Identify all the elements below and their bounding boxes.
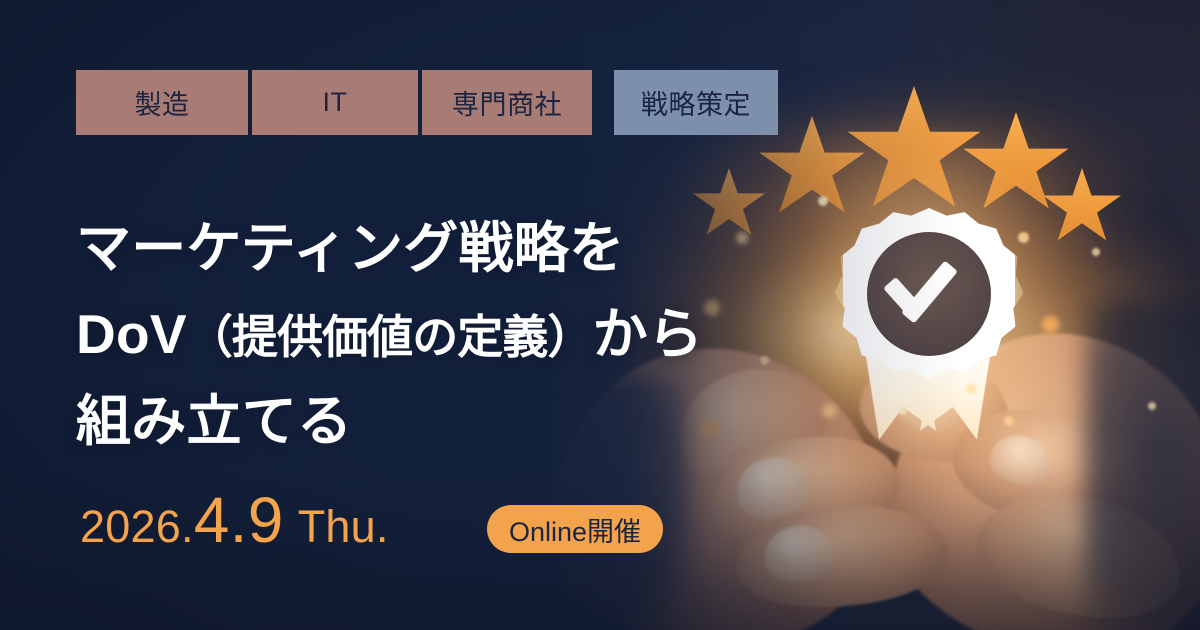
event-date-day: 4.9 <box>194 492 284 550</box>
category-tag-label: 製造 <box>134 83 189 122</box>
category-tag-manufacturing[interactable]: 製造 <box>76 70 248 135</box>
category-tag-label: IT <box>322 87 347 118</box>
event-date-weekday: Thu. <box>298 501 389 553</box>
event-date: 2026.4.9Thu. <box>80 492 389 553</box>
banner-content: 製造 IT 専門商社 戦略策定 マーケティング戦略を DoV（提供価値の定義）か… <box>0 0 1200 630</box>
title-line-2-tail: から <box>593 303 704 365</box>
title-line-2: DoV（提供価値の定義）から <box>76 291 703 377</box>
online-event-badge[interactable]: Online開催 <box>487 505 663 553</box>
event-date-year: 2026. <box>80 501 194 553</box>
title-line-3: 組み立てる <box>76 378 703 464</box>
online-event-badge-label: Online開催 <box>509 510 641 549</box>
category-tag-label: 専門商社 <box>452 83 562 122</box>
category-tag-trading-company[interactable]: 専門商社 <box>422 70 592 135</box>
category-tag-it[interactable]: IT <box>252 70 418 135</box>
event-banner: 製造 IT 専門商社 戦略策定 マーケティング戦略を DoV（提供価値の定義）か… <box>0 0 1200 630</box>
banner-title: マーケティング戦略を DoV（提供価値の定義）から 組み立てる <box>76 205 703 464</box>
category-tag-label: 戦略策定 <box>641 83 751 122</box>
category-tag-list: 製造 IT 専門商社 戦略策定 <box>76 70 778 135</box>
title-line-1: マーケティング戦略を <box>76 205 703 291</box>
category-tag-strategy-planning[interactable]: 戦略策定 <box>614 70 778 135</box>
title-parenthetical: （提供価値の定義） <box>187 311 593 363</box>
title-term-dov: DoV <box>76 303 187 365</box>
